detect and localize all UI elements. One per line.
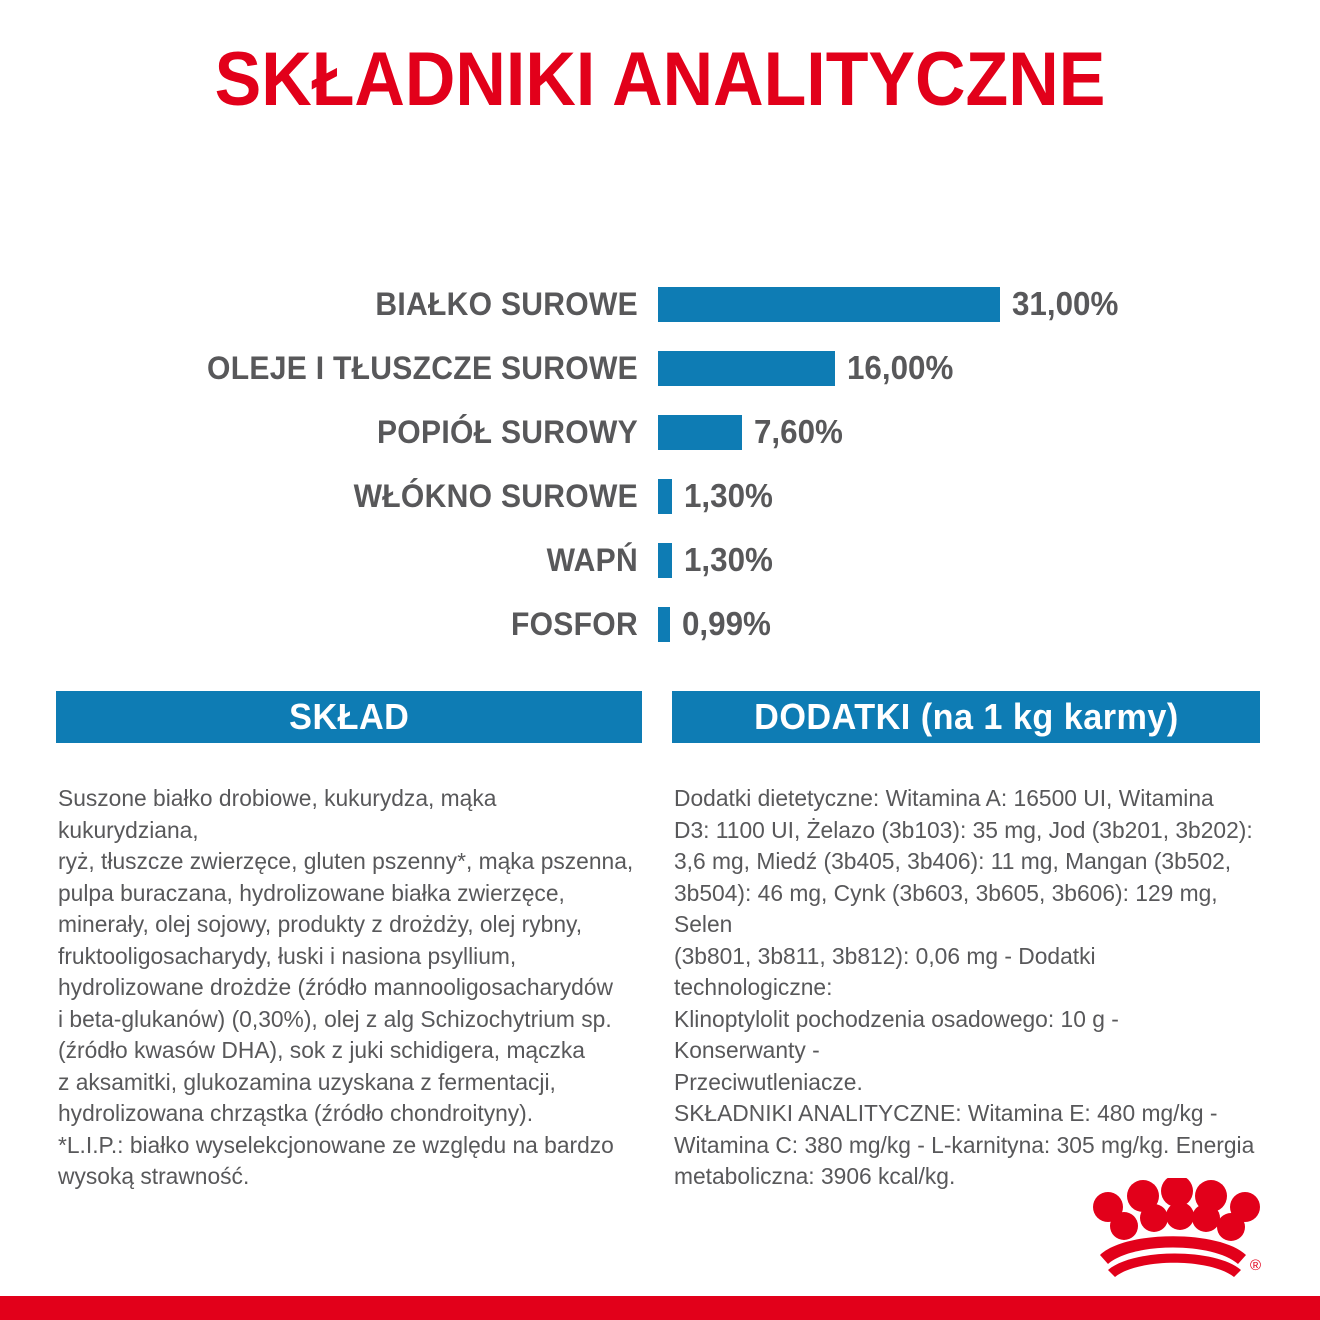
composition-text: Suszone białko drobiowe, kukurydza, mąka… (58, 783, 640, 1193)
analytical-constituents-chart: BIAŁKO SUROWE 31,00% OLEJE I TŁUSZCZE SU… (0, 272, 1320, 656)
chart-value-ash: 7,60% (754, 415, 843, 449)
chart-label-calcium: WAPŃ (38, 543, 638, 577)
section-heading-composition: SKŁAD (56, 691, 642, 743)
chart-bar-wrap: 31,00% (658, 287, 1124, 322)
chart-bar-ash (658, 415, 742, 450)
royal-canin-crown-logo: ® (1078, 1178, 1262, 1282)
chart-row: FOSFOR 0,99% (0, 592, 1320, 656)
chart-label-fibre: WŁÓKNO SUROWE (38, 479, 638, 513)
bottom-red-bar (0, 1296, 1320, 1320)
chart-bar-protein (658, 287, 1000, 322)
chart-bar-wrap: 0,99% (658, 607, 776, 642)
chart-value-protein: 31,00% (1012, 287, 1118, 321)
chart-row: OLEJE I TŁUSZCZE SUROWE 16,00% (0, 336, 1320, 400)
chart-row: BIAŁKO SUROWE 31,00% (0, 272, 1320, 336)
chart-row: WŁÓKNO SUROWE 1,30% (0, 464, 1320, 528)
section-heading-additives: DODATKI (na 1 kg karmy) (672, 691, 1260, 743)
chart-value-calcium: 1,30% (684, 543, 773, 577)
chart-row: WAPŃ 1,30% (0, 528, 1320, 592)
page-title: SKŁADNIKI ANALITYCZNE (53, 38, 1267, 122)
chart-value-fibre: 1,30% (684, 479, 773, 513)
chart-bar-wrap: 7,60% (658, 415, 848, 450)
registered-trademark-symbol: ® (1250, 1257, 1261, 1274)
chart-bar-wrap: 1,30% (658, 543, 778, 578)
chart-row: POPIÓŁ SUROWY 7,60% (0, 400, 1320, 464)
chart-bar-phosphorus (658, 607, 670, 642)
chart-bar-fibre (658, 479, 672, 514)
chart-value-fats: 16,00% (847, 351, 953, 385)
chart-bar-wrap: 1,30% (658, 479, 778, 514)
section-heading-composition-label: SKŁAD (289, 696, 409, 738)
chart-bar-fats (658, 351, 835, 386)
chart-label-protein: BIAŁKO SUROWE (38, 287, 638, 321)
chart-label-ash: POPIÓŁ SUROWY (38, 415, 638, 449)
chart-bar-wrap: 16,00% (658, 351, 959, 386)
chart-label-fats: OLEJE I TŁUSZCZE SUROWE (38, 351, 638, 385)
chart-value-phosphorus: 0,99% (682, 607, 771, 641)
section-heading-additives-label: DODATKI (na 1 kg karmy) (754, 696, 1179, 738)
chart-bar-calcium (658, 543, 672, 578)
additives-text: Dodatki dietetyczne: Witamina A: 16500 U… (674, 783, 1256, 1193)
chart-label-phosphorus: FOSFOR (38, 607, 638, 641)
